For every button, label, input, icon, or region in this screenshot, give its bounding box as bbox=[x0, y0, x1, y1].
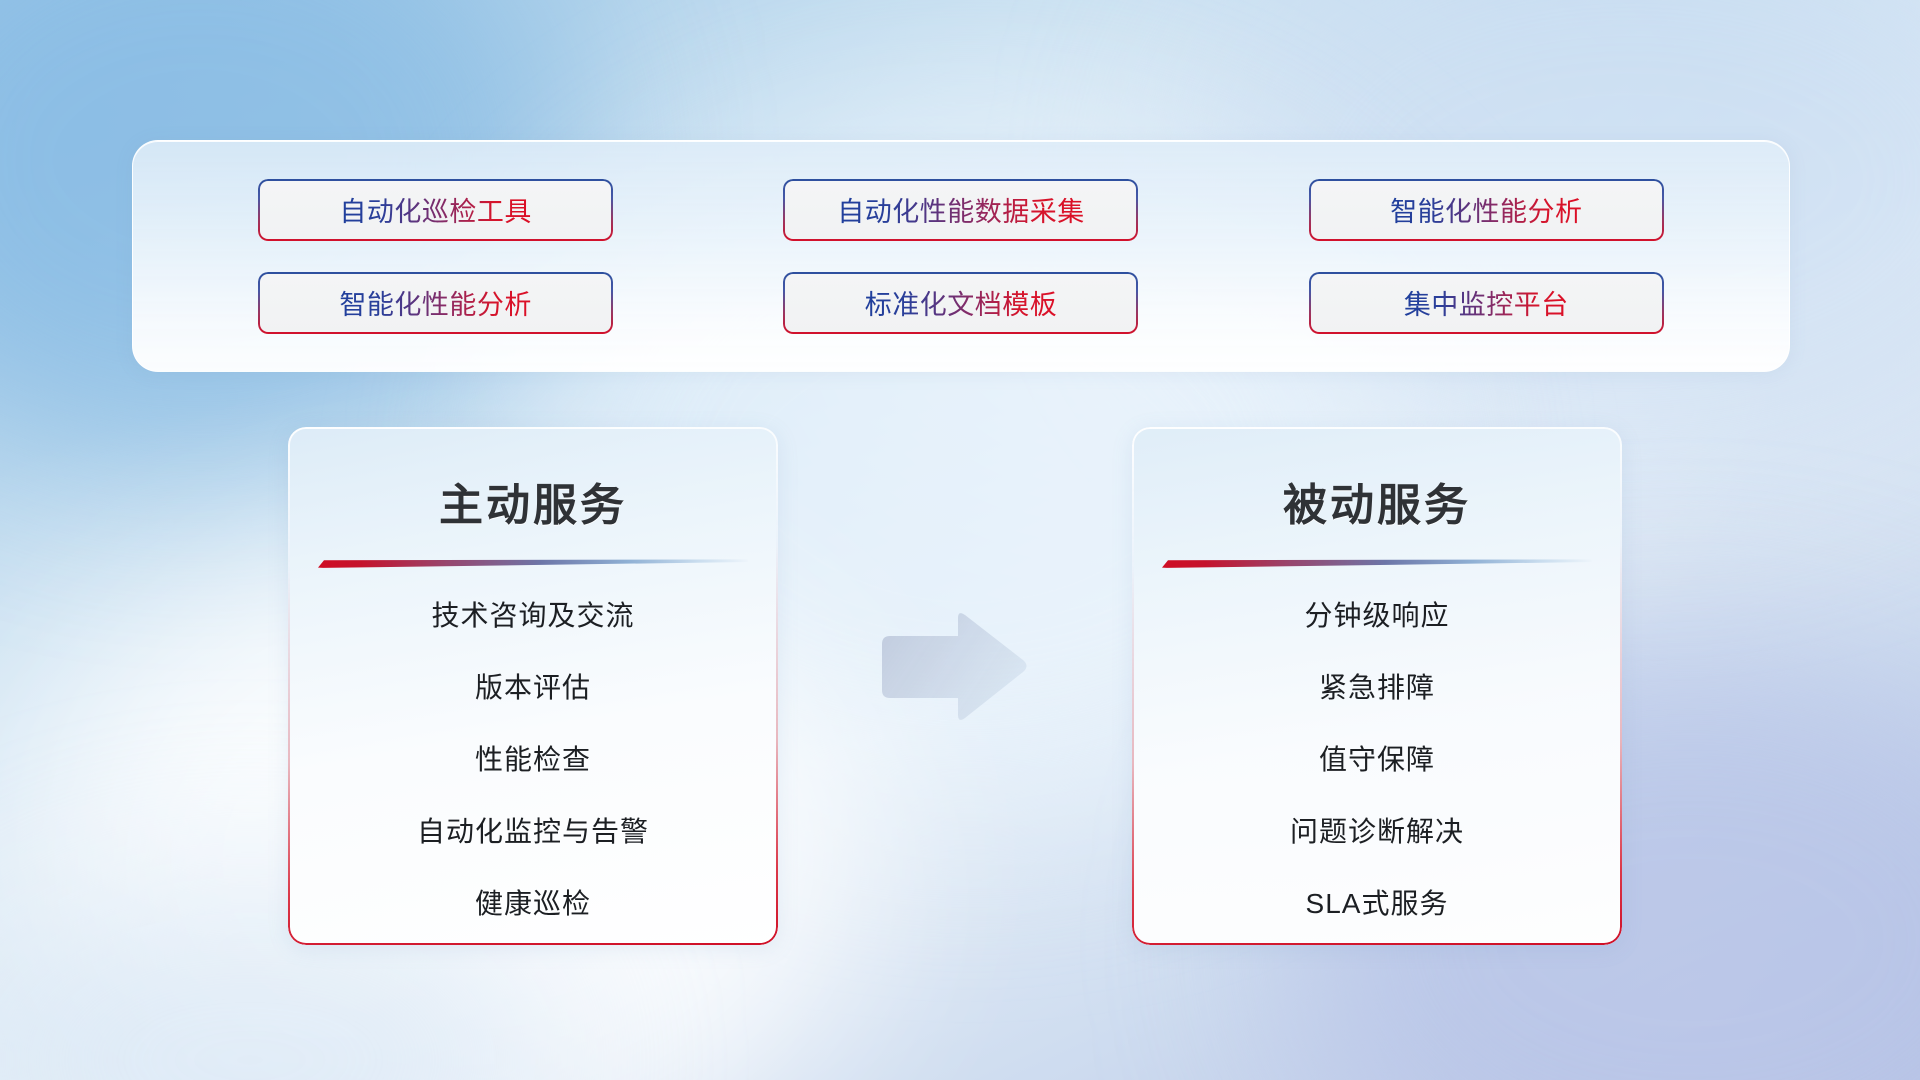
right-arrow-icon bbox=[872, 608, 1032, 728]
list-item: 技术咨询及交流 bbox=[288, 602, 778, 630]
tag-auto-inspection-tool[interactable]: 自动化巡检工具 bbox=[258, 179, 613, 241]
tag-label: 自动化性能数据采集 bbox=[837, 190, 1085, 229]
reactive-service-card[interactable]: 被动服务 分钟级响应 紧急排障 bbox=[1132, 427, 1622, 945]
card-divider bbox=[318, 559, 748, 568]
tag-standard-doc-template[interactable]: 标准化文档模板 bbox=[783, 272, 1138, 334]
card-divider bbox=[1162, 559, 1592, 568]
tag-label: 标准化文档模板 bbox=[865, 283, 1058, 322]
list-item: 值守保障 bbox=[1132, 746, 1622, 774]
tag-label: 集中监控平台 bbox=[1404, 283, 1569, 322]
list-item: 分钟级响应 bbox=[1132, 602, 1622, 630]
list-item: 问题诊断解决 bbox=[1132, 818, 1622, 846]
tag-label: 智能化性能分析 bbox=[339, 283, 532, 322]
capability-tags-panel: 自动化巡检工具 自动化性能数据采集 智能化性能分析 智能化性能分析 标准化文档模… bbox=[132, 140, 1790, 372]
card-title: 被动服务 bbox=[1132, 427, 1622, 533]
tag-label: 智能化性能分析 bbox=[1390, 190, 1583, 229]
list-item: 自动化监控与告警 bbox=[288, 818, 778, 846]
proactive-service-list: 技术咨询及交流 版本评估 性能检查 自动化监控与告警 健康巡检 bbox=[288, 568, 778, 918]
card-title: 主动服务 bbox=[288, 427, 778, 533]
list-item: 紧急排障 bbox=[1132, 674, 1622, 702]
slide-canvas: 自动化巡检工具 自动化性能数据采集 智能化性能分析 智能化性能分析 标准化文档模… bbox=[0, 0, 1920, 1080]
tag-smart-perf-analysis-1[interactable]: 智能化性能分析 bbox=[1309, 179, 1664, 241]
list-item: SLA式服务 bbox=[1132, 890, 1622, 918]
list-item: 版本评估 bbox=[288, 674, 778, 702]
tag-smart-perf-analysis-2[interactable]: 智能化性能分析 bbox=[258, 272, 613, 334]
tag-central-monitor-platform[interactable]: 集中监控平台 bbox=[1309, 272, 1664, 334]
proactive-service-card[interactable]: 主动服务 技术咨询及交流 版本评估 bbox=[288, 427, 778, 945]
list-item: 健康巡检 bbox=[288, 890, 778, 918]
tag-label: 自动化巡检工具 bbox=[339, 190, 532, 229]
tag-auto-perf-collection[interactable]: 自动化性能数据采集 bbox=[783, 179, 1138, 241]
reactive-service-list: 分钟级响应 紧急排障 值守保障 问题诊断解决 SLA式服务 bbox=[1132, 568, 1622, 918]
list-item: 性能检查 bbox=[288, 746, 778, 774]
